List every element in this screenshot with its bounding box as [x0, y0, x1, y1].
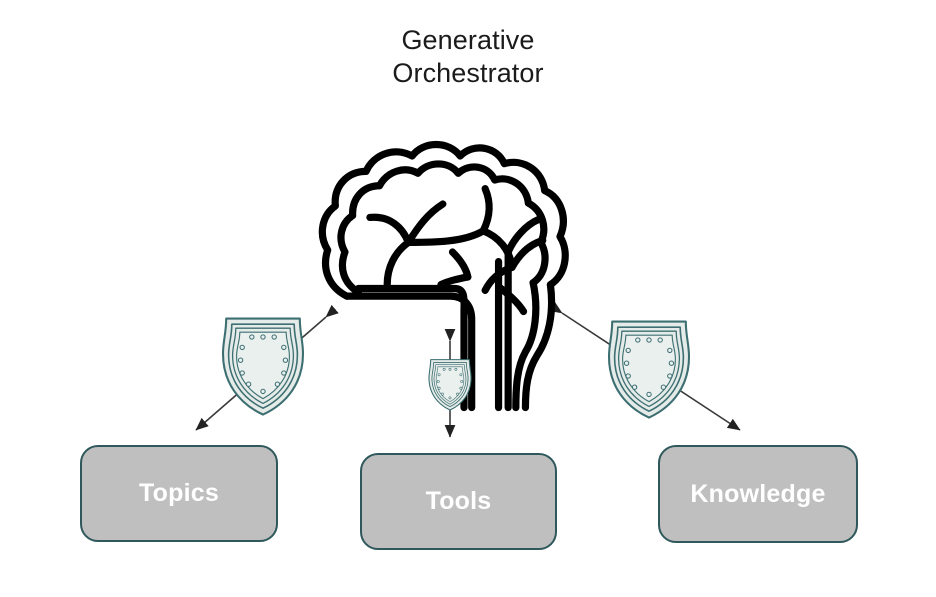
diagram-canvas: Generative Orchestrator [0, 0, 936, 597]
node-box-knowledge[interactable]: Knowledge [658, 445, 858, 543]
node-box-topics[interactable]: Topics [80, 445, 278, 542]
shield-icon-knowledge [609, 322, 689, 418]
node-box-tools[interactable]: Tools [360, 453, 557, 550]
node-label-topics: Topics [139, 479, 219, 508]
shield-icon-topics [223, 319, 303, 415]
node-label-knowledge: Knowledge [690, 480, 825, 509]
node-label-tools: Tools [426, 487, 492, 516]
